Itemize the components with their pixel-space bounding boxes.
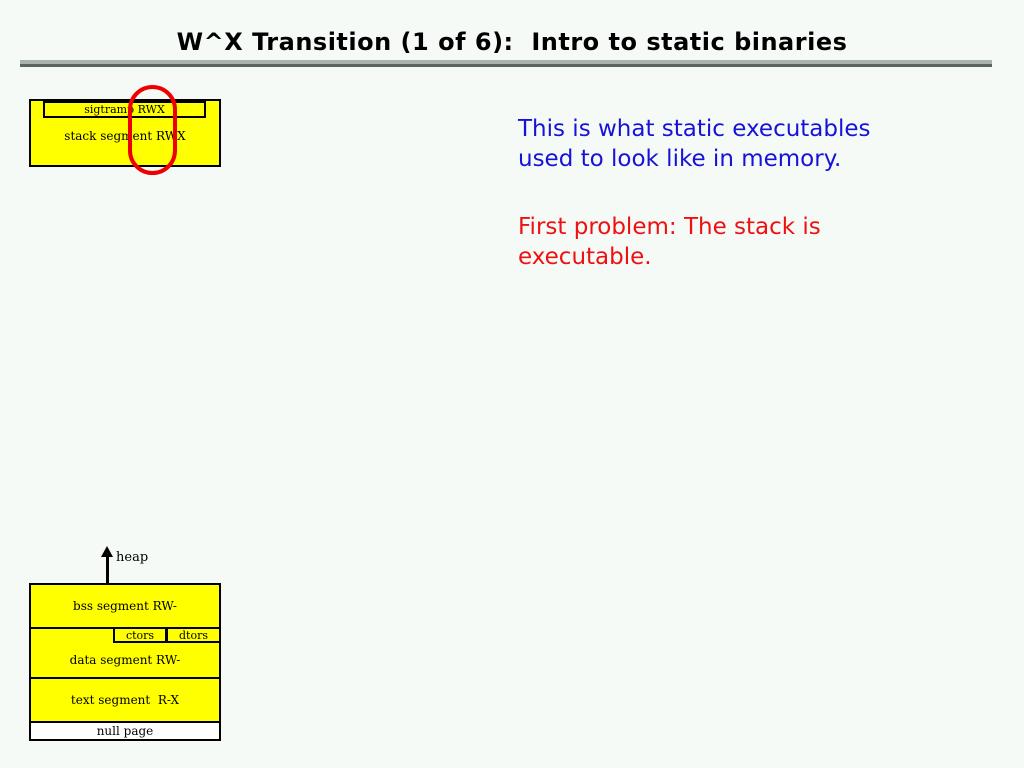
commentary-block: This is what static executables used to … xyxy=(518,114,978,272)
commentary-blue-note: This is what static executables used to … xyxy=(518,114,978,174)
page-title: W^X Transition (1 of 6): Intro to static… xyxy=(0,28,1024,56)
dtors-box: dtors xyxy=(166,627,221,643)
null-page-label: null page xyxy=(97,724,154,738)
heap-growth-arrow: heap xyxy=(96,546,176,586)
image-segments-diagram: bss segment RW- data segment RW- ctors d… xyxy=(29,583,221,741)
heap-label: heap xyxy=(116,550,148,565)
commentary-red-note: First problem: The stack is executable. xyxy=(518,212,978,272)
arrow-shaft xyxy=(106,554,109,585)
ctors-box: ctors xyxy=(113,627,167,643)
text-segment-label: text segment R-X xyxy=(71,693,179,707)
null-page-row: null page xyxy=(29,721,221,741)
stack-segment-label: stack segment RWX xyxy=(29,129,221,143)
title-divider-dark xyxy=(20,64,992,67)
text-segment-row: text segment R-X xyxy=(29,677,221,723)
sigtramp-box: sigtramp RWX xyxy=(43,101,206,118)
data-segment-label: data segment RW- xyxy=(70,653,181,667)
stack-memory-diagram: sigtramp RWX stack segment RWX xyxy=(29,99,221,167)
bss-segment-row: bss segment RW- xyxy=(29,583,221,629)
bss-segment-label: bss segment RW- xyxy=(73,599,177,613)
title-divider xyxy=(20,60,992,67)
